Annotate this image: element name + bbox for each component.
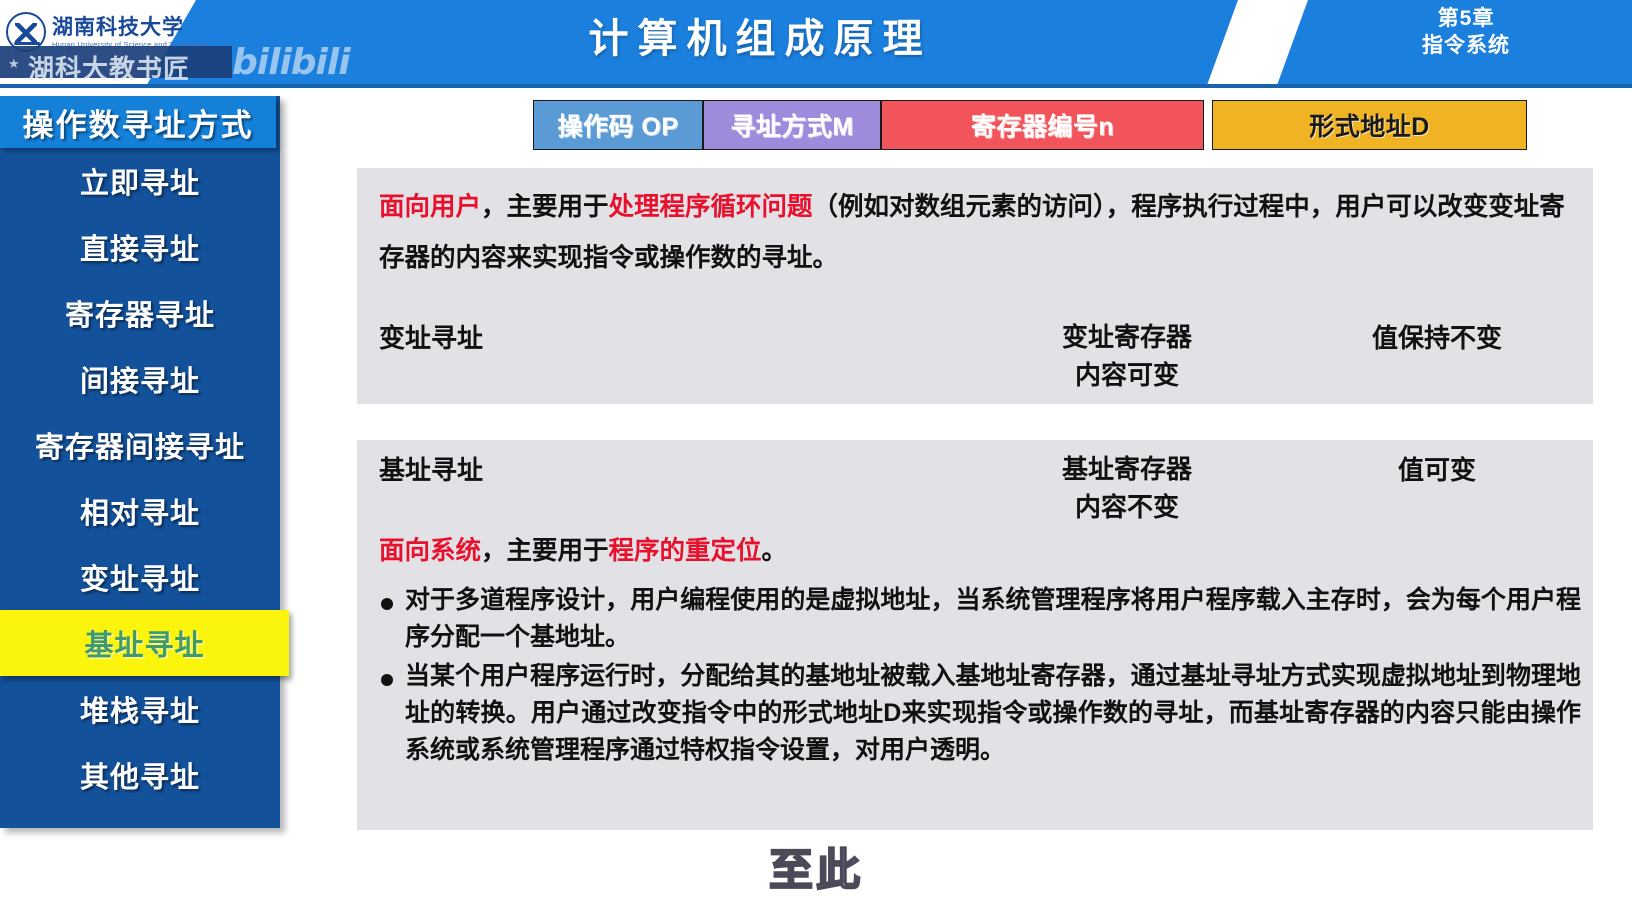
format-field-address: 形式地址D [1212,100,1527,150]
sidebar-item-register[interactable]: 寄存器寻址 [0,280,280,346]
sidebar: 操作数寻址方式 立即寻址 直接寻址 寄存器寻址 间接寻址 寄存器间接寻址 相对寻… [0,96,280,828]
indexed-mode-name: 变址寻址 [379,318,483,355]
university-logo: 湖南科技大学 Hunan University of Science and T… [0,0,230,64]
page-title: 计算机组成原理 [430,8,1090,70]
bullet-dot-icon [381,598,393,610]
chapter-label: 第5章 指令系统 [1300,5,1632,59]
system-line-seg-1: 面向系统 [379,537,481,565]
system-line-seg-4: 。 [762,537,788,565]
app-header: 湖南科技大学 Hunan University of Science and T… [0,0,1632,88]
header-underline [0,84,1632,88]
indexed-addressing-panel: 面向用户，主要用于处理程序循环问题（例如对数组元素的访问），程序执行过程中，用户… [357,168,1593,404]
indexed-register-line2: 内容可变 [957,356,1297,394]
system-line-seg-2: ，主要用于 [481,537,609,565]
sidebar-item-stack[interactable]: 堆栈寻址 [0,676,280,742]
indexed-register-line1: 变址寄存器 [957,318,1297,356]
bullet-text-1: 对于多道程序设计，用户编程使用的是虚拟地址，当系统管理程序将用户程序载入主存时，… [405,582,1581,656]
indexed-value-desc: 值保持不变 [1312,318,1562,355]
sidebar-item-register-indirect[interactable]: 寄存器间接寻址 [0,412,280,478]
sidebar-item-other[interactable]: 其他寻址 [0,742,280,808]
list-item: 当某个用户程序运行时，分配给其的基地址被载入基地址寄存器，通过基址寻址方式实现虚… [375,658,1581,769]
sidebar-item-relative[interactable]: 相对寻址 [0,478,280,544]
chapter-number: 第5章 [1300,5,1632,32]
indexed-paragraph-seg-2: ，主要用于 [481,193,609,221]
system-oriented-line: 面向系统，主要用于程序的重定位。 [379,530,787,567]
base-value-desc: 值可变 [1312,450,1562,487]
sidebar-item-base[interactable]: 基址寻址 [0,610,289,676]
sidebar-item-indirect[interactable]: 间接寻址 [0,346,280,412]
chapter-name: 指令系统 [1300,32,1632,59]
list-item: 对于多道程序设计，用户编程使用的是虚拟地址，当系统管理程序将用户程序载入主存时，… [375,582,1581,656]
indexed-register-desc: 变址寄存器 内容可变 [957,318,1297,394]
sidebar-title: 操作数寻址方式 [0,96,276,148]
university-name-cn: 湖南科技大学 [52,16,209,37]
format-field-register-number: 寄存器编号n [881,100,1204,150]
base-addressing-panel: 基址寻址 基址寄存器 内容不变 值可变 面向系统，主要用于程序的重定位。 对于多… [357,440,1593,830]
format-field-address-label: 形式地址D [1309,107,1430,143]
format-field-opcode-label: 操作码 OP [557,107,678,143]
system-line-seg-3: 程序的重定位 [609,537,762,565]
indexed-paragraph-seg-1: 面向用户 [379,193,481,221]
base-register-line2: 内容不变 [957,488,1297,526]
format-field-mode-label: 寻址方式M [730,107,853,143]
format-field-opcode: 操作码 OP [533,100,703,150]
sidebar-item-indexed[interactable]: 变址寻址 [0,544,280,610]
base-mode-name: 基址寻址 [379,450,483,487]
base-register-line1: 基址寄存器 [957,450,1297,488]
base-register-desc: 基址寄存器 内容不变 [957,450,1297,526]
sidebar-list: 立即寻址 直接寻址 寄存器寻址 间接寻址 寄存器间接寻址 相对寻址 变址寻址 基… [0,148,280,808]
instruction-format-bar: 操作码 OP 寻址方式M 寄存器编号n 形式地址D [533,100,1527,150]
sidebar-title-label: 操作数寻址方式 [23,100,254,145]
format-field-register-number-label: 寄存器编号n [971,107,1114,143]
bullet-dot-icon [381,674,393,686]
base-addressing-bullets: 对于多道程序设计，用户编程使用的是虚拟地址，当系统管理程序将用户程序载入主存时，… [375,582,1581,771]
university-name-en: Hunan University of Science and Technolo… [52,40,209,49]
footer-watermark: 至此 [0,834,1632,898]
sidebar-item-immediate[interactable]: 立即寻址 [0,148,280,214]
indexed-paragraph-seg-3: 处理程序循环问题 [609,193,813,221]
header-slash-divider [1204,0,1310,88]
bullet-text-2: 当某个用户程序运行时，分配给其的基地址被载入基地址寄存器，通过基址寻址方式实现虚… [405,658,1581,769]
sidebar-item-direct[interactable]: 直接寻址 [0,214,280,280]
university-seal-icon [6,12,46,52]
format-field-mode: 寻址方式M [703,100,881,150]
indexed-paragraph: 面向用户，主要用于处理程序循环问题（例如对数组元素的访问），程序执行过程中，用户… [379,182,1579,284]
